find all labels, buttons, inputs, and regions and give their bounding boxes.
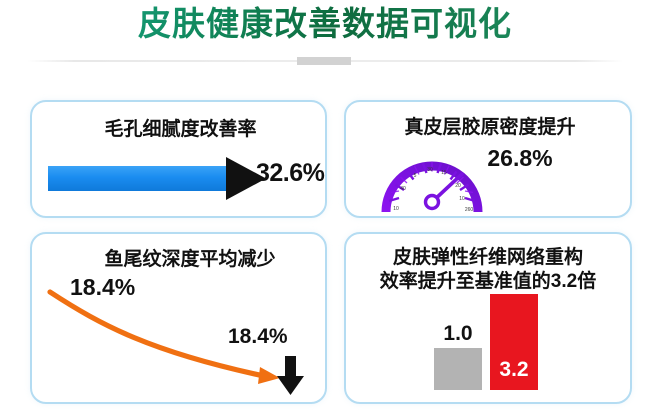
card-title: 毛孔细腻度改善率 [32, 118, 329, 142]
svg-text:5: 5 [414, 173, 417, 179]
svg-text:10: 10 [459, 196, 465, 202]
improved-bar-label: 3.2 [490, 358, 538, 382]
crows-feet-value: 18.4% [228, 325, 288, 349]
baseline-bar-label: 1.0 [434, 322, 482, 346]
svg-text:260: 260 [465, 207, 474, 213]
baseline-bar [434, 348, 482, 390]
page-header: 皮肤健康改善数据可视化 [0, 0, 650, 90]
card-title: 皮肤弹性纤维网络重构 效率提升至基准值的3.2倍 [352, 246, 624, 294]
svg-text:10: 10 [393, 206, 399, 212]
gauge-hub [426, 196, 439, 209]
page-title: 皮肤健康改善数据可视化 [0, 2, 650, 46]
svg-text:30: 30 [427, 167, 433, 173]
card-title: 真皮层胶原密度提升 [346, 116, 634, 140]
svg-text:40: 40 [400, 186, 406, 192]
progress-bar-fill [48, 166, 236, 191]
svg-text:15: 15 [441, 170, 447, 176]
card-elastin-network[interactable]: 皮肤弹性纤维网络重构 效率提升至基准值的3.2倍 1.0 3.2 [344, 232, 632, 404]
card-crows-feet-depth[interactable]: 鱼尾纹深度平均减少 18.4% 18.4% [30, 232, 327, 404]
pore-refinement-value: 32.6% [256, 159, 324, 188]
bar-pair-chart: 1.0 3.2 [422, 294, 572, 398]
declining-curve-chart [32, 234, 325, 402]
card-pore-refinement[interactable]: 毛孔细腻度改善率 32.6% [30, 100, 327, 218]
curve-arrowhead-icon [258, 367, 280, 384]
card-title-line-2: 效率提升至基准值的3.2倍 [352, 270, 624, 294]
svg-text:20: 20 [455, 183, 461, 189]
card-title-line-1: 皮肤弹性纤维网络重构 [352, 246, 624, 270]
title-divider-nub [297, 57, 351, 65]
card-collagen-density[interactable]: 真皮层胶原密度提升 26.8% [344, 100, 632, 218]
down-arrow-icon [277, 356, 304, 395]
gauge-icon: 10 40 5 30 15 20 10 260 [376, 140, 488, 216]
